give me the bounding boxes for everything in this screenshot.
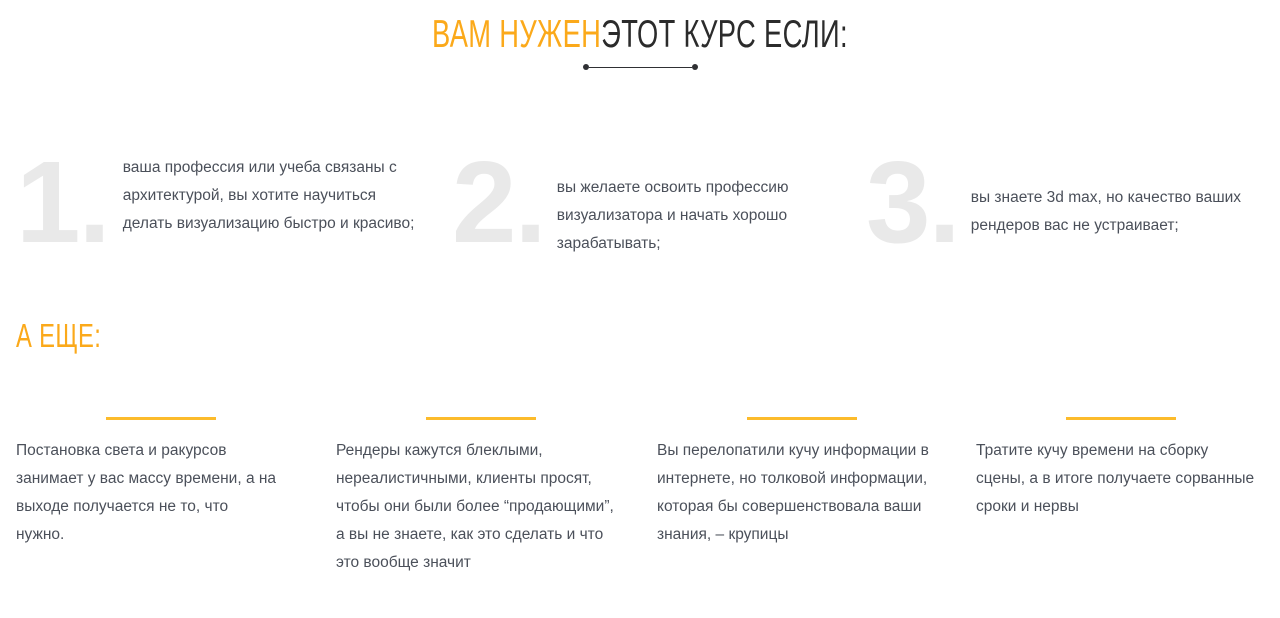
reason-text: вы знаете 3d max, но качество ваших ренд… xyxy=(971,148,1276,240)
pain-point-column: Рендеры кажутся блеклыми, нереалистичным… xyxy=(336,417,626,577)
decorator-line xyxy=(589,67,692,68)
column-text: Рендеры кажутся блеклыми, нереалистичным… xyxy=(336,437,626,577)
column-text: Постановка света и ракурсов занимает у в… xyxy=(16,437,278,549)
column-text: Тратите кучу времени на сборку сцены, а … xyxy=(976,437,1256,521)
decorator-dot-right-icon xyxy=(692,64,698,70)
reason-number: 1. xyxy=(16,150,109,254)
page-title-text: ВАМ НУЖЕНЭТОТ КУРС ЕСЛИ: xyxy=(192,12,1088,58)
column-rule xyxy=(426,417,536,420)
column-text: Вы перелопатили кучу информации в интерн… xyxy=(657,437,957,549)
pain-point-column: Тратите кучу времени на сборку сцены, а … xyxy=(976,417,1256,521)
reason-number: 3. xyxy=(866,150,959,254)
pain-point-column: Вы перелопатили кучу информации в интерн… xyxy=(657,417,957,549)
reason-item: 2. вы желаете освоить профессию визуализ… xyxy=(452,148,832,258)
column-rule xyxy=(747,417,857,420)
section-subtitle: А ЕЩЕ: xyxy=(16,316,101,356)
reason-item: 3. вы знаете 3d max, но качество ваших р… xyxy=(866,148,1276,254)
page-title-main: ЭТОТ КУРС ЕСЛИ: xyxy=(601,13,848,56)
page-title: ВАМ НУЖЕНЭТОТ КУРС ЕСЛИ: xyxy=(0,12,1280,58)
pain-point-column: Постановка света и ракурсов занимает у в… xyxy=(16,417,278,549)
column-rule xyxy=(106,417,216,420)
column-rule xyxy=(1066,417,1176,420)
reason-item: 1. ваша профессия или учеба связаны с ар… xyxy=(16,148,426,254)
reason-number: 2. xyxy=(452,150,545,254)
reason-text: вы желаете освоить профессию визуализато… xyxy=(557,148,832,258)
page-title-accent: ВАМ НУЖЕН xyxy=(432,13,601,56)
reason-text: ваша профессия или учеба связаны с архит… xyxy=(123,148,426,238)
reasons-list: 1. ваша профессия или учеба связаны с ар… xyxy=(0,148,1280,278)
title-decorator xyxy=(0,62,1280,72)
